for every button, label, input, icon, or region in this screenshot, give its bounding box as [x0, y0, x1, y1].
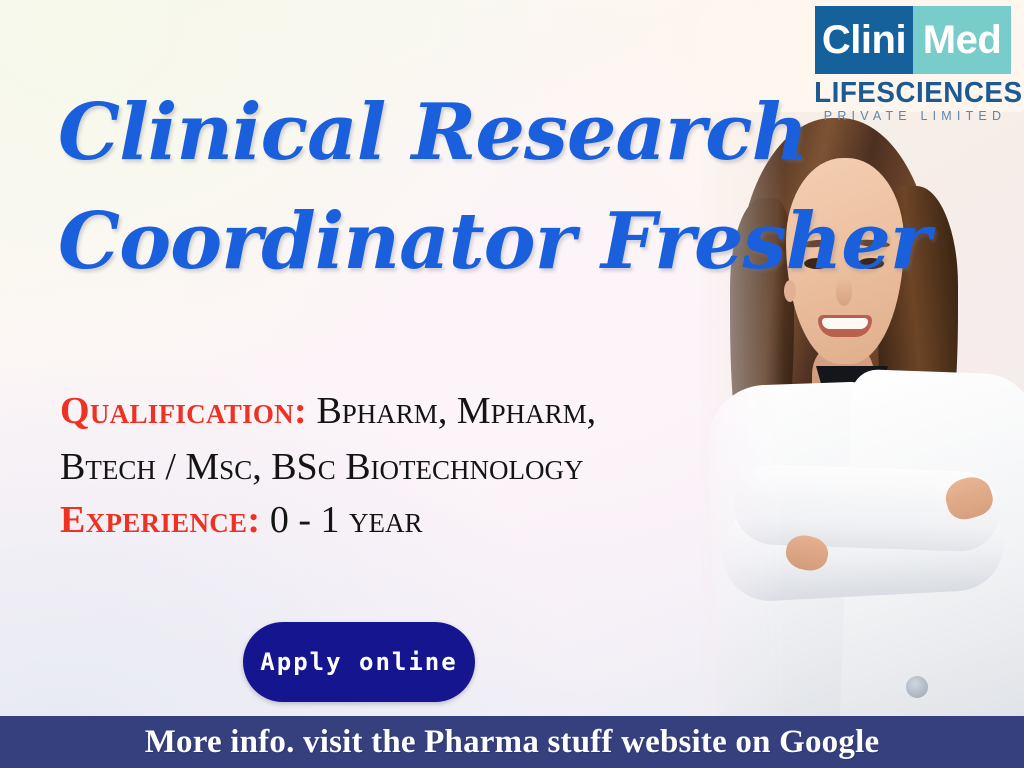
- experience-value: 0 - 1 year: [260, 499, 422, 541]
- company-logo: Clini Med LIFESCIENCES PRIVATE LIMITED: [810, 6, 1016, 124]
- qualification-value-line-1: Bpharm, Mpharm,: [307, 390, 596, 432]
- qualification-value-line-2: Btech / Msc, BSc Biotechnology: [60, 446, 584, 488]
- logo-wordmark-blocks: Clini Med: [815, 6, 1011, 74]
- job-advertisement-poster: Clini Med LIFESCIENCES PRIVATE LIMITED C…: [0, 0, 1024, 768]
- teeth: [822, 318, 868, 329]
- page-title: Clinical Research Coordinator Fresher: [58, 78, 848, 296]
- headline-line-1: Clinical Research: [58, 78, 848, 187]
- experience-row: Experience: 0 - 1 year: [60, 494, 760, 547]
- qualification-row-1: Qualification: Bpharm, Mpharm,: [60, 382, 760, 441]
- logo-block-med: Med: [913, 6, 1011, 74]
- footer-bar: More info. visit the Pharma stuff websit…: [0, 716, 1024, 768]
- job-details: Qualification: Bpharm, Mpharm, Btech / M…: [60, 382, 760, 547]
- apply-online-button[interactable]: Apply online: [243, 622, 475, 702]
- footer-text: More info. visit the Pharma stuff websit…: [145, 724, 880, 761]
- headline-line-2: Coordinator Fresher: [58, 187, 848, 296]
- logo-private-limited-text: PRIVATE LIMITED: [810, 110, 1016, 124]
- lab-coat-button: [906, 676, 928, 698]
- logo-lifesciences-text: LIFESCIENCES: [814, 78, 1012, 108]
- logo-block-clini: Clini: [815, 6, 913, 74]
- experience-label: Experience:: [60, 499, 260, 541]
- qualification-row-2: Btech / Msc, BSc Biotechnology: [60, 441, 760, 494]
- qualification-label: Qualification:: [60, 390, 307, 432]
- mouth: [818, 315, 872, 337]
